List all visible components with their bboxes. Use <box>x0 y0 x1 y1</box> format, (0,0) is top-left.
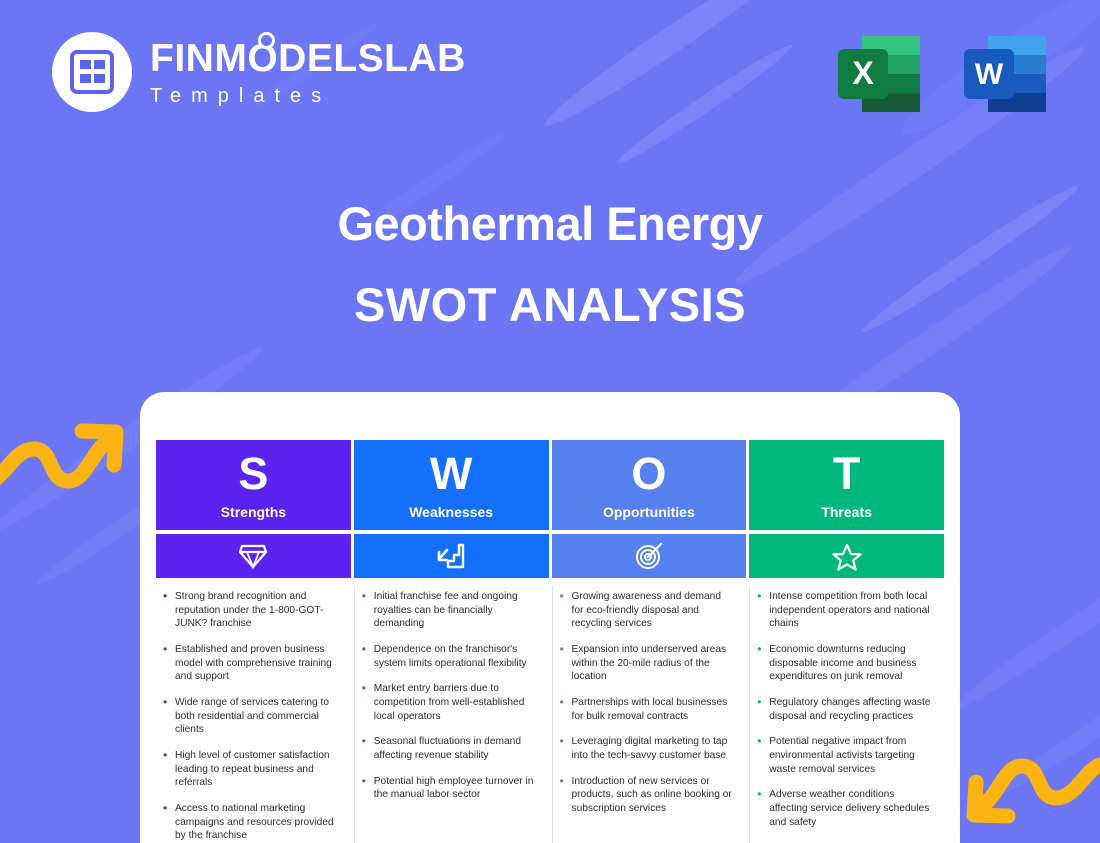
swot-letter: S <box>238 451 268 496</box>
list-item: Adverse weather conditions affecting ser… <box>756 788 932 829</box>
swot-letter: O <box>631 451 666 496</box>
swot-header-weaknesses[interactable]: W Weaknesses <box>354 440 549 530</box>
swot-label: Threats <box>821 504 872 520</box>
list-item: Regulatory changes affecting waste dispo… <box>756 696 932 723</box>
swot-header-threats[interactable]: T Threats <box>749 440 944 530</box>
squiggly-arrow-up-right-icon <box>0 405 132 500</box>
swot-column-strengths: Strong brand recognition and reputation … <box>156 586 351 843</box>
list-item: Seasonal fluctuations in demand affectin… <box>361 735 537 762</box>
swot-header-strengths[interactable]: S Strengths <box>156 440 351 530</box>
logo-badge <box>52 32 132 112</box>
list-item: Partnerships with local businesses for b… <box>559 696 735 723</box>
descending-stairs-arrow-icon <box>436 542 466 570</box>
word-icon[interactable]: W <box>958 28 1054 120</box>
grid-squares-icon <box>70 50 114 94</box>
brand-wordmark: FINMODELSLAB Templates <box>150 39 466 106</box>
swot-icon-cell-weaknesses <box>354 534 549 578</box>
swot-header-opportunities[interactable]: O Opportunities <box>552 440 747 530</box>
brand-name-o: O <box>247 39 278 78</box>
swot-icon-cell-opportunities <box>552 534 747 578</box>
list-item: Market entry barriers due to competition… <box>361 682 537 723</box>
brush-stroke-decoration <box>538 0 801 136</box>
excel-icon[interactable]: X <box>832 28 928 120</box>
list-item: Strong brand recognition and reputation … <box>162 590 339 631</box>
star-outline-icon <box>832 542 862 571</box>
list-item: Leveraging digital marketing to tap into… <box>559 735 735 762</box>
brush-stroke-decoration <box>613 39 796 170</box>
list-item: Established and proven business model wi… <box>162 643 339 684</box>
swot-points-list: Strong brand recognition and reputation … <box>162 590 339 843</box>
swot-letter: T <box>833 451 861 496</box>
swot-letter: W <box>430 451 472 496</box>
swot-table: S Strengths W Weaknesses O Opportunities… <box>156 440 944 843</box>
excel-icon-letter: X <box>852 55 874 91</box>
swot-column-opportunities: Growing awareness and demand for eco-fri… <box>552 586 747 843</box>
diamond-gem-icon <box>238 543 268 569</box>
page-title: Geothermal Energy <box>0 196 1100 251</box>
swot-body-row: Strong brand recognition and reputation … <box>156 586 944 843</box>
brand-name-part2: DELSLAB <box>278 37 466 80</box>
squiggly-arrow-down-left-icon <box>958 752 1100 843</box>
list-item: Potential high employee turnover in the … <box>361 775 537 802</box>
list-item: Economic downturns reducing disposable i… <box>756 643 932 684</box>
list-item: Dependence on the franchisor's system li… <box>361 643 537 670</box>
swot-icon-row <box>156 534 944 578</box>
brand-tagline: Templates <box>150 86 466 106</box>
swot-label: Weaknesses <box>409 504 493 520</box>
swot-points-list: Growing awareness and demand for eco-fri… <box>559 590 735 816</box>
swot-header-row: S Strengths W Weaknesses O Opportunities… <box>156 440 944 530</box>
swot-points-list: Intense competition from both local inde… <box>756 590 932 829</box>
office-format-icons: X W <box>832 28 1054 120</box>
page-subtitle: SWOT ANALYSIS <box>0 277 1100 332</box>
slide-canvas: FINMODELSLAB Templates X W <box>0 0 1100 843</box>
swot-label: Opportunities <box>603 504 695 520</box>
swot-label: Strengths <box>221 504 286 520</box>
brand-name-part1: FINM <box>150 37 247 80</box>
list-item: Wide range of services catering to both … <box>162 696 339 737</box>
swot-column-weaknesses: Initial franchise fee and ongoing royalt… <box>354 586 549 843</box>
list-item: Initial franchise fee and ongoing royalt… <box>361 590 537 631</box>
brand-logo[interactable]: FINMODELSLAB Templates <box>52 32 466 112</box>
target-arrow-icon <box>634 541 664 571</box>
swot-column-threats: Intense competition from both local inde… <box>749 586 944 843</box>
list-item: Introduction of new services or products… <box>559 775 735 816</box>
list-item: High level of customer satisfaction lead… <box>162 749 339 790</box>
swot-icon-cell-strengths <box>156 534 351 578</box>
list-item: Growing awareness and demand for eco-fri… <box>559 590 735 631</box>
swot-icon-cell-threats <box>749 534 944 578</box>
brush-stroke-decoration <box>948 543 1100 716</box>
title-block: Geothermal Energy SWOT ANALYSIS <box>0 196 1100 332</box>
word-icon-letter: W <box>975 58 1004 91</box>
list-item: Access to national marketing campaigns a… <box>162 802 339 843</box>
swot-points-list: Initial franchise fee and ongoing royalt… <box>361 590 537 802</box>
list-item: Expansion into underserved areas within … <box>559 643 735 684</box>
brand-name: FINMODELSLAB <box>150 39 466 78</box>
swot-card: S Strengths W Weaknesses O Opportunities… <box>140 392 960 843</box>
list-item: Intense competition from both local inde… <box>756 590 932 631</box>
list-item: Potential negative impact from environme… <box>756 735 932 776</box>
